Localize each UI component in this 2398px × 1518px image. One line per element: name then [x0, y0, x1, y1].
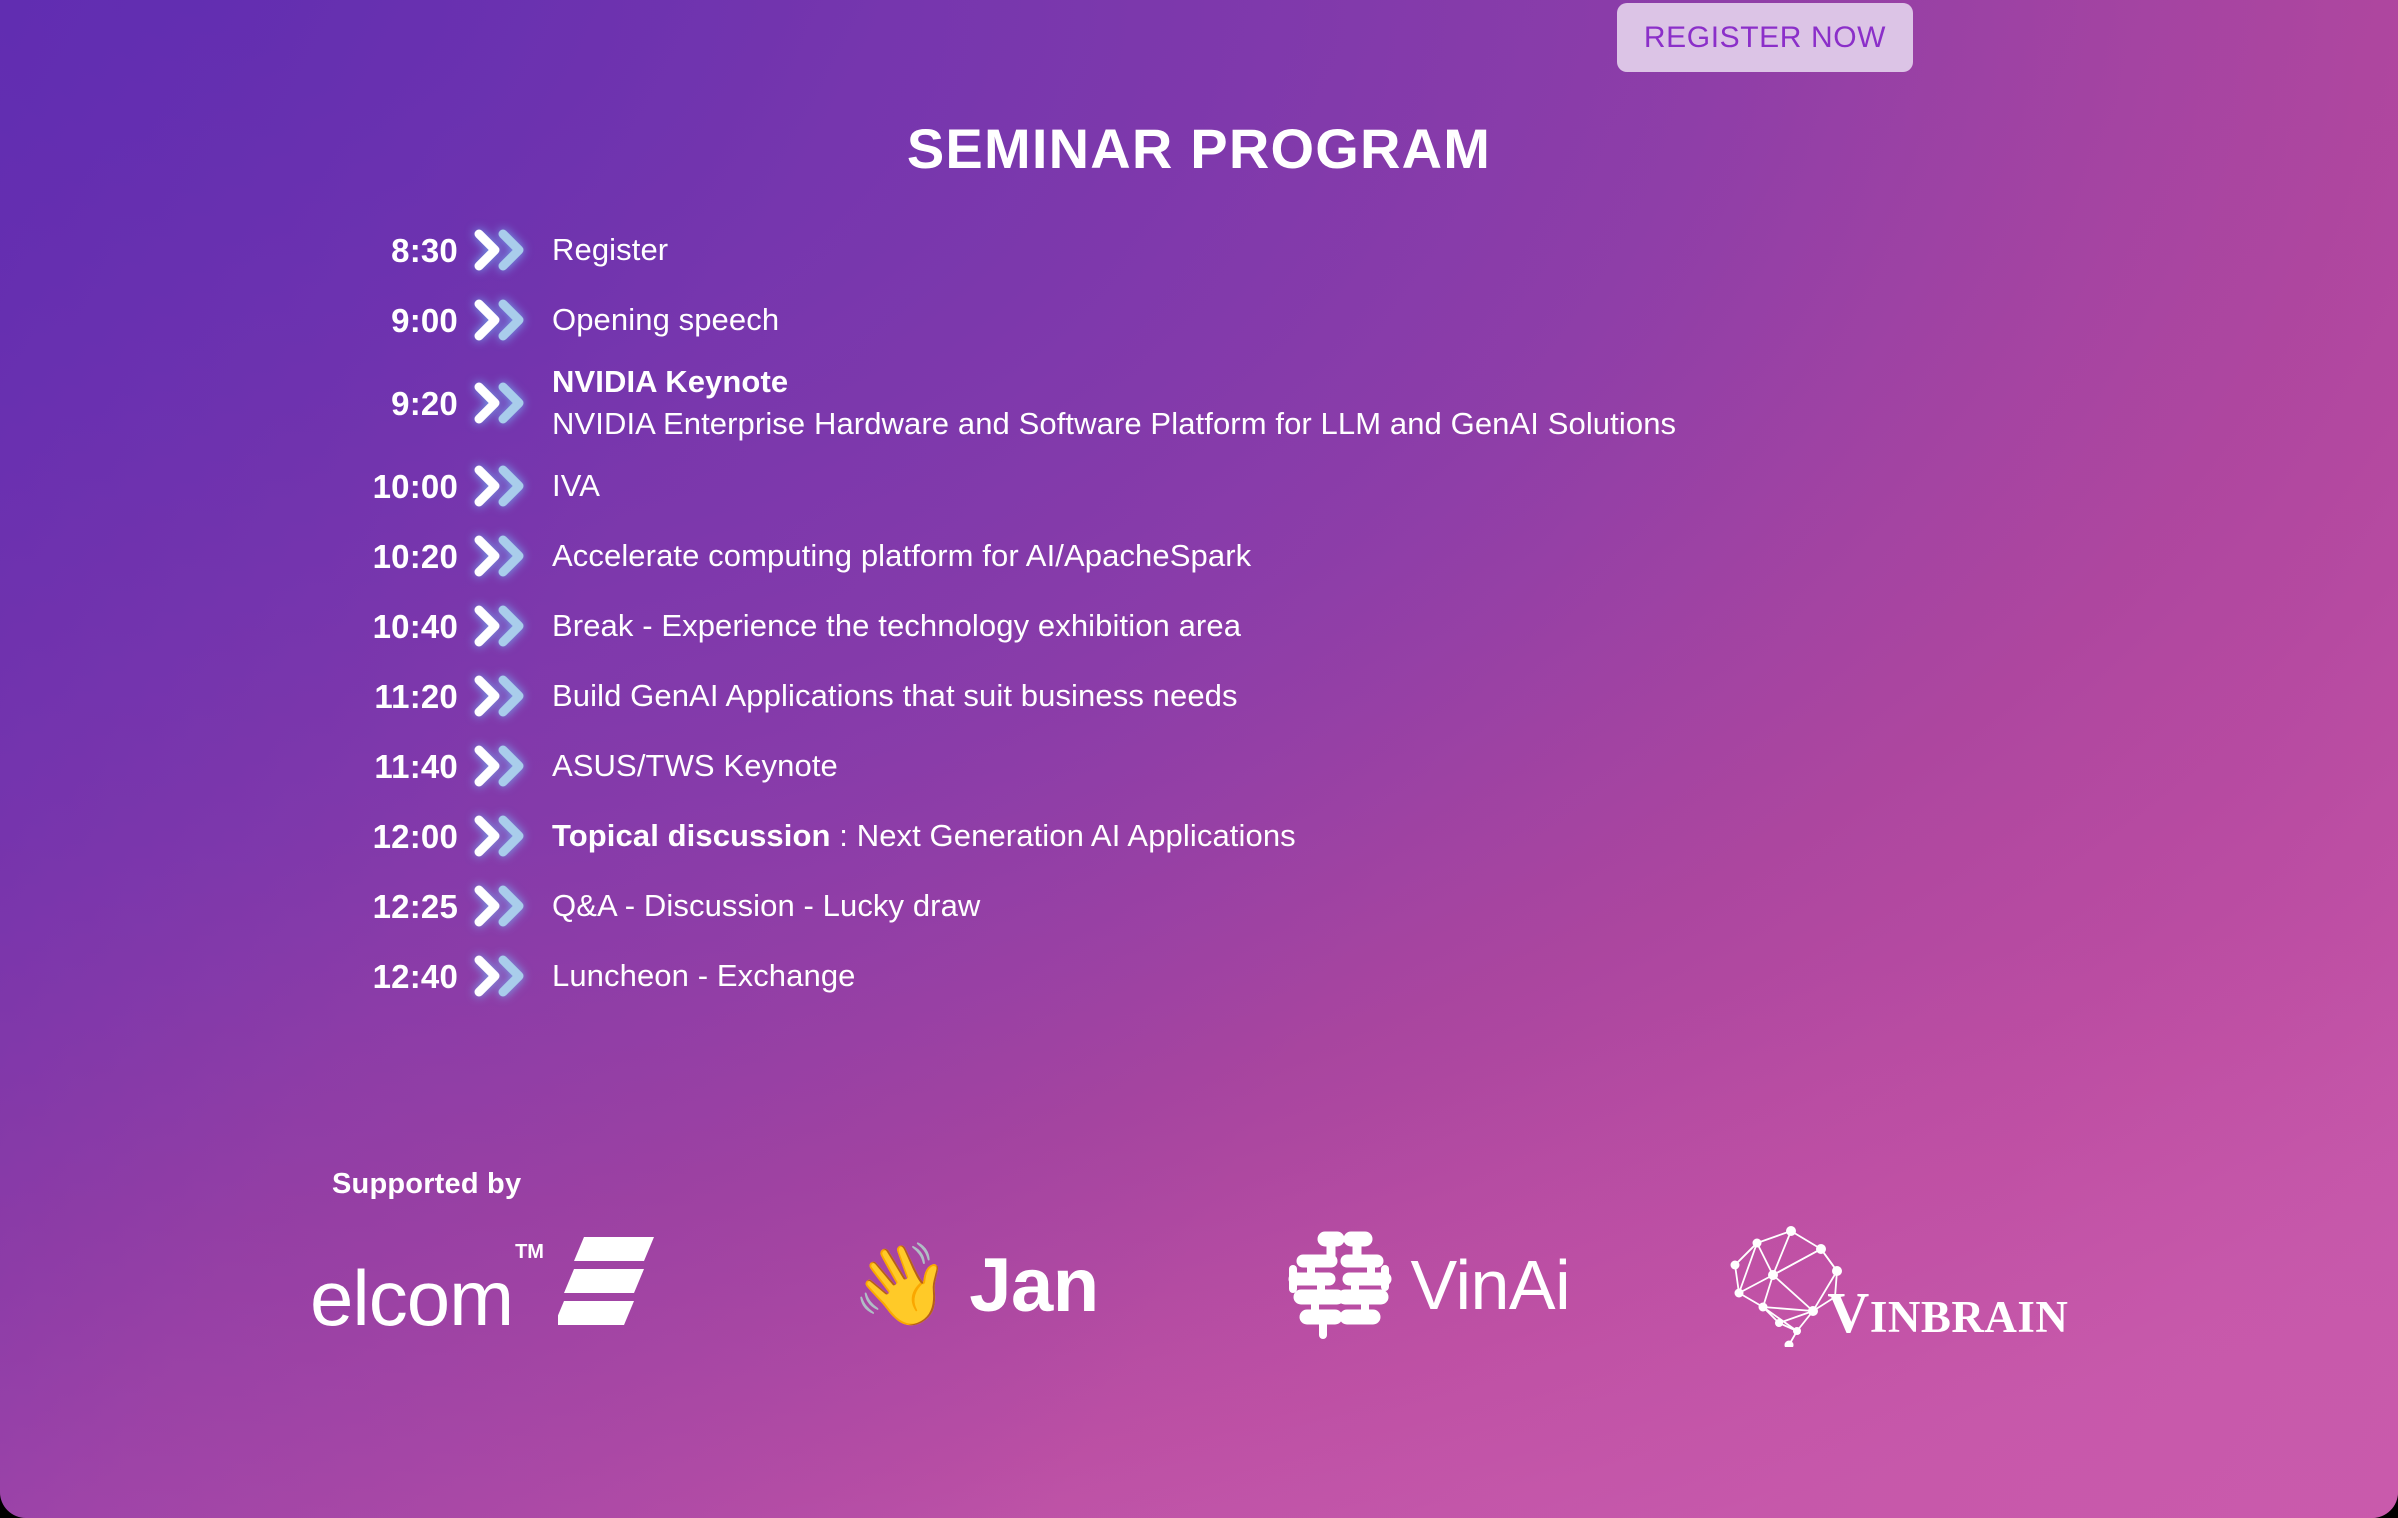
jan-wordmark: Jan — [969, 1242, 1098, 1329]
trademark-icon: TM — [515, 1241, 544, 1264]
sponsor-logo-vinai[interactable]: VinAi — [1285, 1227, 1718, 1344]
schedule-description: IVA — [544, 465, 600, 507]
schedule-description: Register — [544, 229, 668, 271]
schedule-time: 9:00 — [330, 304, 458, 337]
seminar-program-poster: REGISTER NOW SEMINAR PROGRAM 8:30 Regist… — [0, 0, 2398, 1518]
schedule-time: 11:40 — [330, 750, 458, 783]
supported-by-label: Supported by — [332, 1168, 521, 1201]
schedule-title: NVIDIA Keynote — [552, 364, 788, 399]
waving-hand-icon: 👋 — [852, 1245, 952, 1325]
vinbrain-rest: INBRAIN — [1870, 1292, 2069, 1342]
register-now-button[interactable]: REGISTER NOW — [1617, 3, 1913, 72]
schedule-title: Topical discussion — [552, 818, 831, 853]
schedule-row: 9:00 Opening speech — [330, 285, 2230, 355]
schedule-time: 9:20 — [330, 387, 458, 420]
schedule-title: ASUS/TWS Keynote — [552, 748, 838, 783]
schedule-description: Q&A - Discussion - Lucky draw — [544, 885, 980, 927]
schedule-description: Build GenAI Applications that suit busin… — [544, 675, 1238, 717]
schedule-row: 11:20 Build GenAI Applications that suit… — [330, 661, 2230, 731]
schedule-row: 10:40 Break - Experience the technology … — [330, 591, 2230, 661]
double-chevron-right-icon — [458, 884, 544, 928]
sponsor-logos: elcom TM 👋 Jan — [310, 1215, 2170, 1355]
double-chevron-right-icon — [458, 534, 544, 578]
sponsor-logo-elcom[interactable]: elcom TM — [310, 1235, 822, 1336]
sponsor-logo-vinbrain[interactable]: VINBRAIN — [1717, 1219, 2170, 1352]
schedule-time: 8:30 — [330, 234, 458, 267]
schedule-list: 8:30 Register9:00 Opening speech9:20 NVI… — [330, 215, 2230, 1011]
schedule-title: Break - Experience the technology exhibi… — [552, 608, 1241, 643]
elcom-e-mark-icon — [558, 1235, 654, 1332]
schedule-time: 12:00 — [330, 820, 458, 853]
double-chevron-right-icon — [458, 954, 544, 998]
schedule-row: 10:20 Accelerate computing platform for … — [330, 521, 2230, 591]
sponsor-logo-jan[interactable]: 👋 Jan — [822, 1242, 1285, 1329]
schedule-description: Break - Experience the technology exhibi… — [544, 605, 1241, 647]
double-chevron-right-icon — [458, 674, 544, 718]
schedule-time: 10:20 — [330, 540, 458, 573]
schedule-title: Luncheon - Exchange — [552, 958, 856, 993]
vinai-neural-mark-icon — [1285, 1227, 1395, 1344]
schedule-time: 12:25 — [330, 890, 458, 923]
double-chevron-right-icon — [458, 298, 544, 342]
schedule-time: 10:00 — [330, 470, 458, 503]
schedule-description: Luncheon - Exchange — [544, 955, 856, 997]
schedule-title: Q&A - Discussion - Lucky draw — [552, 888, 980, 923]
double-chevron-right-icon — [458, 604, 544, 648]
page-title: SEMINAR PROGRAM — [0, 116, 2398, 181]
double-chevron-right-icon — [458, 381, 544, 425]
double-chevron-right-icon — [458, 814, 544, 858]
schedule-description: ASUS/TWS Keynote — [544, 745, 838, 787]
schedule-row: 12:25 Q&A - Discussion - Lucky draw — [330, 871, 2230, 941]
schedule-title-suffix: : Next Generation AI Applications — [831, 818, 1296, 853]
schedule-time: 12:40 — [330, 960, 458, 993]
schedule-row: 11:40 ASUS/TWS Keynote — [330, 731, 2230, 801]
vinai-wordmark: VinAi — [1411, 1245, 1571, 1325]
schedule-row: 8:30 Register — [330, 215, 2230, 285]
double-chevron-right-icon — [458, 744, 544, 788]
schedule-row: 10:00 IVA — [330, 451, 2230, 521]
elcom-wordmark: elcom — [310, 1261, 513, 1335]
double-chevron-right-icon — [458, 464, 544, 508]
schedule-title: Build GenAI Applications that suit busin… — [552, 678, 1238, 713]
schedule-description: Opening speech — [544, 299, 779, 341]
schedule-time: 10:40 — [330, 610, 458, 643]
schedule-title: Opening speech — [552, 302, 779, 337]
schedule-description: Accelerate computing platform for AI/Apa… — [544, 535, 1251, 577]
vinbrain-wordmark: VINBRAIN — [1827, 1279, 2068, 1346]
schedule-title: Accelerate computing platform for AI/Apa… — [552, 538, 1251, 573]
schedule-time: 11:20 — [330, 680, 458, 713]
schedule-title: IVA — [552, 468, 600, 503]
schedule-row: 12:40 Luncheon - Exchange — [330, 941, 2230, 1011]
schedule-description: Topical discussion : Next Generation AI … — [544, 815, 1296, 857]
double-chevron-right-icon — [458, 228, 544, 272]
schedule-subtitle: NVIDIA Enterprise Hardware and Software … — [552, 403, 1676, 445]
schedule-title: Register — [552, 232, 668, 267]
schedule-description: NVIDIA KeynoteNVIDIA Enterprise Hardware… — [544, 361, 1676, 444]
vinbrain-initial: V — [1827, 1280, 1869, 1345]
schedule-row: 12:00 Topical discussion : Next Generati… — [330, 801, 2230, 871]
schedule-row: 9:20 NVIDIA KeynoteNVIDIA Enterprise Har… — [330, 355, 2230, 451]
